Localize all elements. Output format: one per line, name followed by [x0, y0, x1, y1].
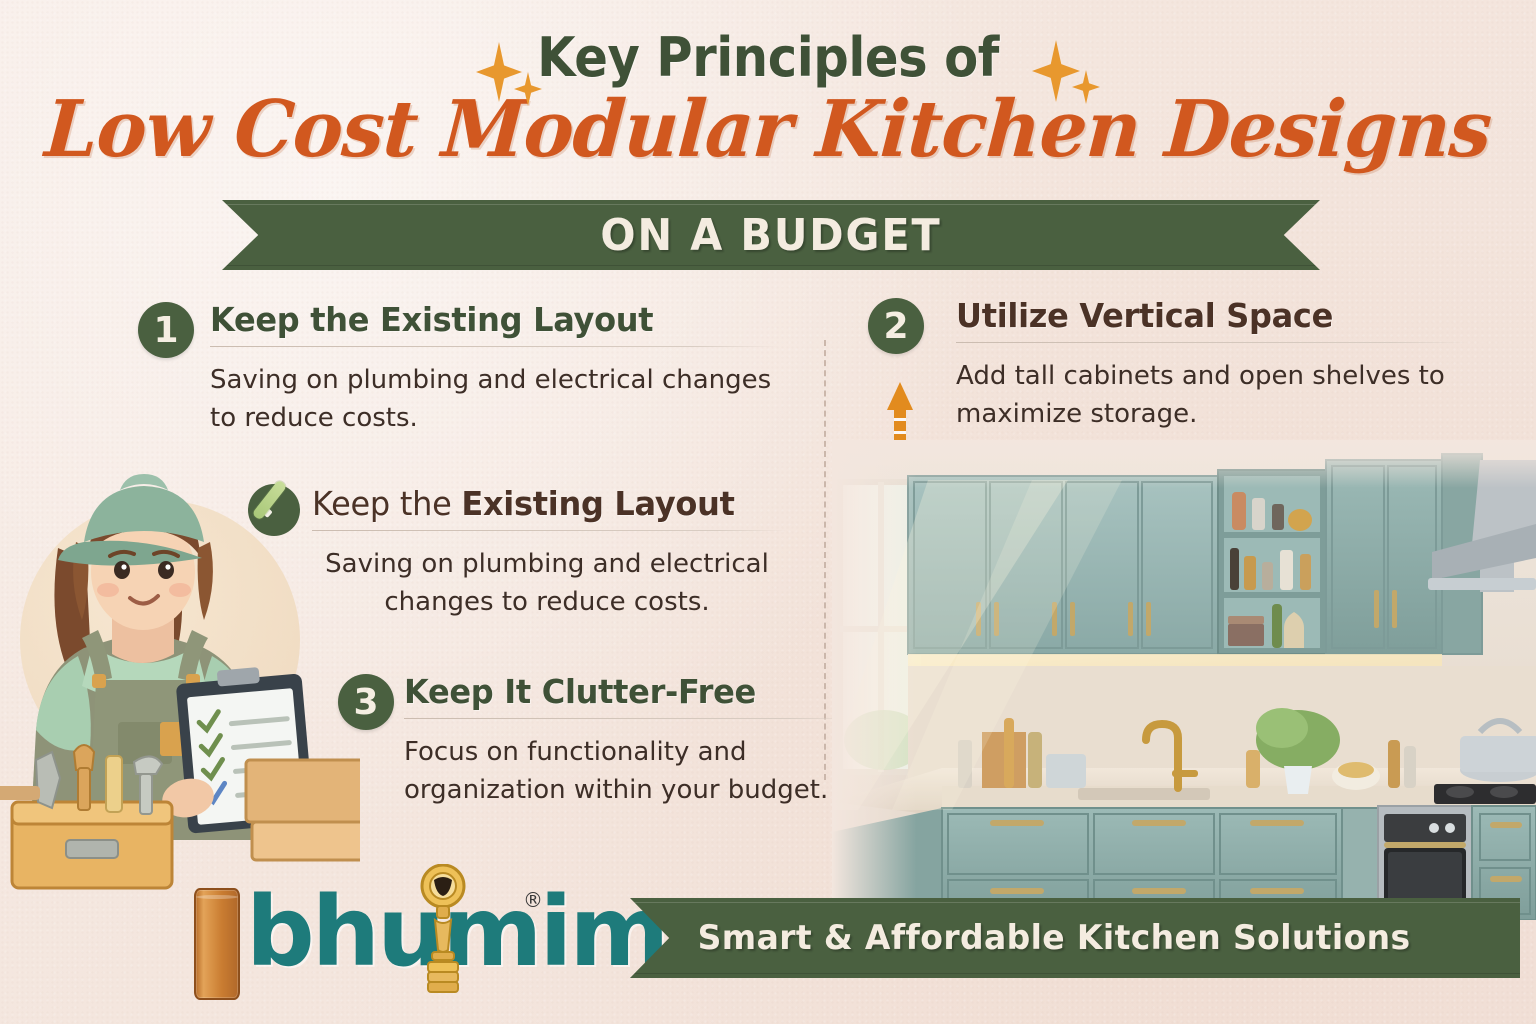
- principle-1-rule: [210, 346, 778, 347]
- number-badge-1: 1: [138, 302, 194, 358]
- wooden-baluster-icon: [420, 864, 466, 994]
- number-badge-1-label: 1: [153, 310, 178, 351]
- number-badge-2-label: 2: [883, 306, 908, 347]
- principle-3-rule: [404, 718, 858, 719]
- principle-3-body: Focus on functionality and organization …: [404, 733, 874, 810]
- principle-1: 1 Keep the Existing Layout Saving on plu…: [138, 300, 778, 438]
- principle-2-body: Add tall cabinets and open shelves to ma…: [956, 357, 1476, 434]
- page-kicker: Key Principles of: [537, 26, 999, 89]
- kitchen-illustration-svg: [832, 440, 1536, 920]
- woman-worker-with-clipboard-illustration: [0, 430, 360, 900]
- principle-3-title: Keep It Clutter-Free: [404, 672, 844, 711]
- principle-2-rule: [956, 342, 1468, 343]
- principle-1-title: Keep the Existing Layout: [210, 300, 761, 339]
- tagline-ribbon: Smart & Affordable Kitchen Solutions: [630, 898, 1520, 978]
- registered-mark: ®: [523, 888, 543, 912]
- principle-check-title-bold: Existing Layout: [461, 484, 734, 523]
- tagline-label: Smart & Affordable Kitchen Solutions: [643, 898, 1506, 978]
- principle-2-title: Utilize Vertical Space: [956, 296, 1453, 335]
- header-block: Key Principles of Low Cost Modular Kitch…: [0, 26, 1536, 169]
- modular-kitchen-photo: [832, 440, 1536, 920]
- principle-2: 2 Utilize Vertical Space Add tall cabine…: [868, 296, 1468, 434]
- number-badge-2: 2: [868, 298, 924, 354]
- up-arrow-head: [887, 382, 913, 410]
- bhumim-logo[interactable]: bhumim ®: [118, 866, 588, 996]
- principle-check-title: Keep the Existing Layout: [312, 484, 774, 523]
- principle-check-rule: [312, 530, 788, 531]
- worker-illustration-svg: [0, 430, 360, 900]
- page-title: Low Cost Modular Kitchen Designs: [28, 91, 1508, 169]
- infographic-canvas: Key Principles of Low Cost Modular Kitch…: [0, 0, 1536, 1024]
- budget-ribbon: ON A BUDGET: [222, 200, 1320, 270]
- wooden-pillar-icon: [194, 888, 240, 1000]
- principle-check-body: Saving on plumbing and electrical change…: [312, 545, 782, 622]
- principle-3: 3 Keep It Clutter-Free Focus on function…: [338, 672, 858, 810]
- principle-1-body: Saving on plumbing and electrical change…: [210, 361, 790, 438]
- budget-ribbon-label: ON A BUDGET: [255, 200, 1287, 270]
